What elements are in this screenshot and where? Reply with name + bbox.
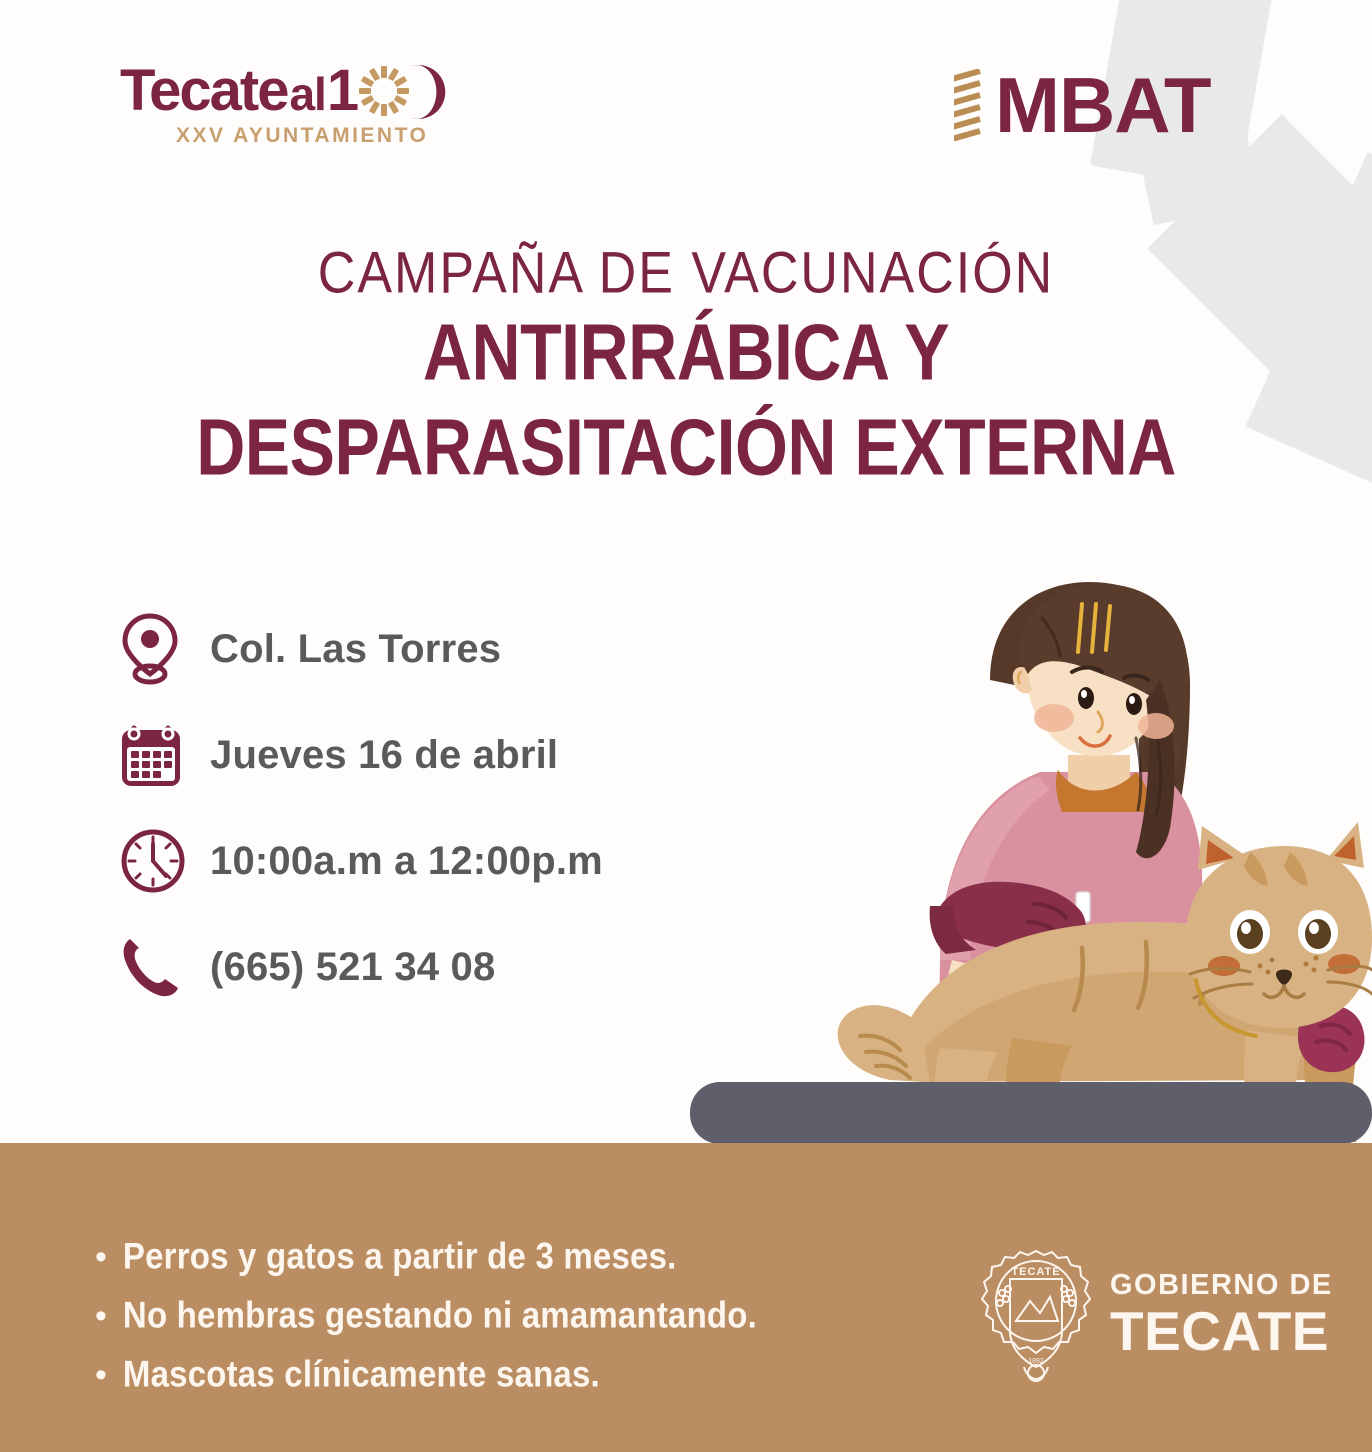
tecate-logo-one: 1 [327, 62, 356, 120]
title-line-3: DESPARASITACIÓN EXTERNA [0, 407, 1372, 489]
detail-text-location: Col. Las Torres [210, 627, 501, 672]
crescent-zero-icon [405, 64, 447, 118]
header: Tecate al 1 [0, 0, 1372, 185]
bullet-dot-icon: • [95, 1358, 107, 1392]
tecate-al-100-logo: Tecate al 1 [120, 62, 447, 148]
tecate-logo-al: al [289, 71, 325, 117]
veterinarian-with-cat-illustration [690, 560, 1372, 1160]
tecate-coat-of-arms-icon: TECATE 1892 [980, 1245, 1092, 1385]
clock-icon [118, 826, 210, 896]
poster-canvas: Tecate al 1 [0, 0, 1372, 1452]
location-pin-icon [118, 612, 210, 686]
tecate-logo-word: Tecate [120, 62, 287, 120]
detail-text-phone: (665) 521 34 08 [210, 945, 495, 990]
bullet-dot-icon: • [95, 1299, 107, 1333]
tecate-logo-subtitle: XXV AYUNTAMIENTO [176, 124, 447, 148]
detail-row-location: Col. Las Torres [118, 596, 758, 702]
imbat-logo: MBAT [950, 66, 1211, 144]
detail-text-date: Jueves 16 de abril [210, 733, 558, 778]
striped-i-icon [950, 69, 988, 141]
requirement-text: Perros y gatos a partir de 3 meses. [123, 1236, 677, 1277]
gobierno-text-block: GOBIERNO DE TECATE [1110, 1271, 1333, 1359]
requirement-text: No hembras gestando ni amamantando. [123, 1295, 757, 1336]
event-details-list: Col. Las Torres [118, 596, 758, 1020]
bullet-dot-icon: • [95, 1240, 107, 1274]
title-line-1: CAMPAÑA DE VACUNACIÓN [0, 243, 1372, 304]
phone-icon [118, 933, 210, 1001]
requirements-list: • Perros y gatos a partir de 3 meses. • … [95, 1236, 935, 1413]
gobierno-line-1: GOBIERNO DE [1110, 1271, 1333, 1300]
detail-text-time: 10:00a.m a 12:00p.m [210, 839, 603, 884]
detail-row-time: 10:00a.m a 12:00p.m [118, 808, 758, 914]
list-item: • Perros y gatos a partir de 3 meses. [95, 1236, 935, 1274]
detail-row-phone: (665) 521 34 08 [118, 914, 758, 1020]
gobierno-de-tecate-logo: TECATE 1892 GOBIERNO DE TECATE [980, 1245, 1333, 1385]
svg-text:TECATE: TECATE [1011, 1266, 1060, 1278]
title-block: CAMPAÑA DE VACUNACIÓN ANTIRRÁBICA Y DESP… [0, 243, 1372, 476]
imbat-logo-text: MBAT [995, 66, 1211, 144]
title-line-2: ANTIRRÁBICA Y [0, 312, 1372, 394]
list-item: • No hembras gestando ni amamantando. [95, 1295, 935, 1333]
requirement-text: Mascotas clínicamente sanas. [123, 1354, 600, 1395]
sunburst-zero-icon [357, 64, 411, 118]
detail-row-date: Jueves 16 de abril [118, 702, 758, 808]
svg-text:1892: 1892 [1028, 1358, 1044, 1365]
list-item: • Mascotas clínicamente sanas. [95, 1354, 935, 1392]
calendar-icon [118, 720, 210, 790]
gobierno-line-2: TECATE [1110, 1304, 1333, 1359]
